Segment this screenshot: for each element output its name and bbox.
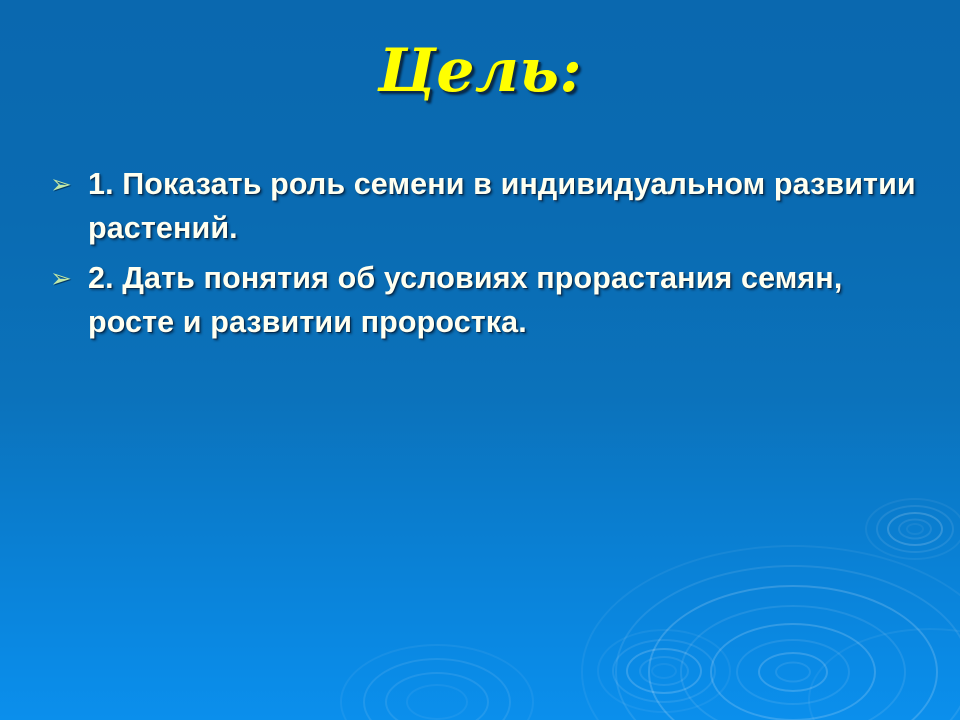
- ripple-ring: [340, 644, 534, 720]
- ripple-ring: [710, 623, 876, 720]
- ripple-ring: [651, 663, 677, 679]
- ripple-ring: [887, 512, 943, 546]
- slide-body-bullet-list: ➢ 1. Показать роль семени в индивидуальн…: [50, 162, 930, 350]
- list-item: ➢ 2. Дать понятия об условиях прорастани…: [50, 256, 930, 344]
- presentation-slide: Цель: ➢ 1. Показать роль семени в индиви…: [0, 0, 960, 720]
- bullet-arrow-icon: ➢: [50, 256, 88, 300]
- water-ripples-decoration: [0, 0, 960, 720]
- ripple-ring: [406, 684, 468, 720]
- ripple-ring: [736, 639, 850, 705]
- ripple-ring: [626, 648, 702, 694]
- ripple-ring: [775, 662, 811, 683]
- ripple-ring: [615, 565, 960, 720]
- slide-title: Цель:: [0, 40, 960, 103]
- ripple-ring: [876, 505, 954, 553]
- ripple-ring: [612, 639, 716, 703]
- list-item: ➢ 1. Показать роль семени в индивидуальн…: [50, 162, 930, 250]
- ripple-ring: [906, 523, 924, 535]
- ripple-ring: [758, 652, 828, 692]
- ripple-ring: [639, 656, 689, 686]
- ripple-ring: [385, 672, 489, 720]
- ripple-ring: [648, 585, 938, 720]
- ripple-ring: [680, 605, 906, 720]
- ripple-ring: [808, 628, 960, 720]
- bullet-text: 1. Показать роль семени в индивидуальном…: [88, 162, 930, 250]
- ripple-ring: [597, 629, 731, 713]
- ripple-ring: [865, 498, 960, 560]
- bullet-text: 2. Дать понятия об условиях прорастания …: [88, 256, 930, 344]
- ripple-ring: [581, 545, 960, 720]
- ripple-ring: [363, 658, 511, 720]
- ripple-ring: [898, 519, 932, 540]
- bullet-arrow-icon: ➢: [50, 162, 88, 206]
